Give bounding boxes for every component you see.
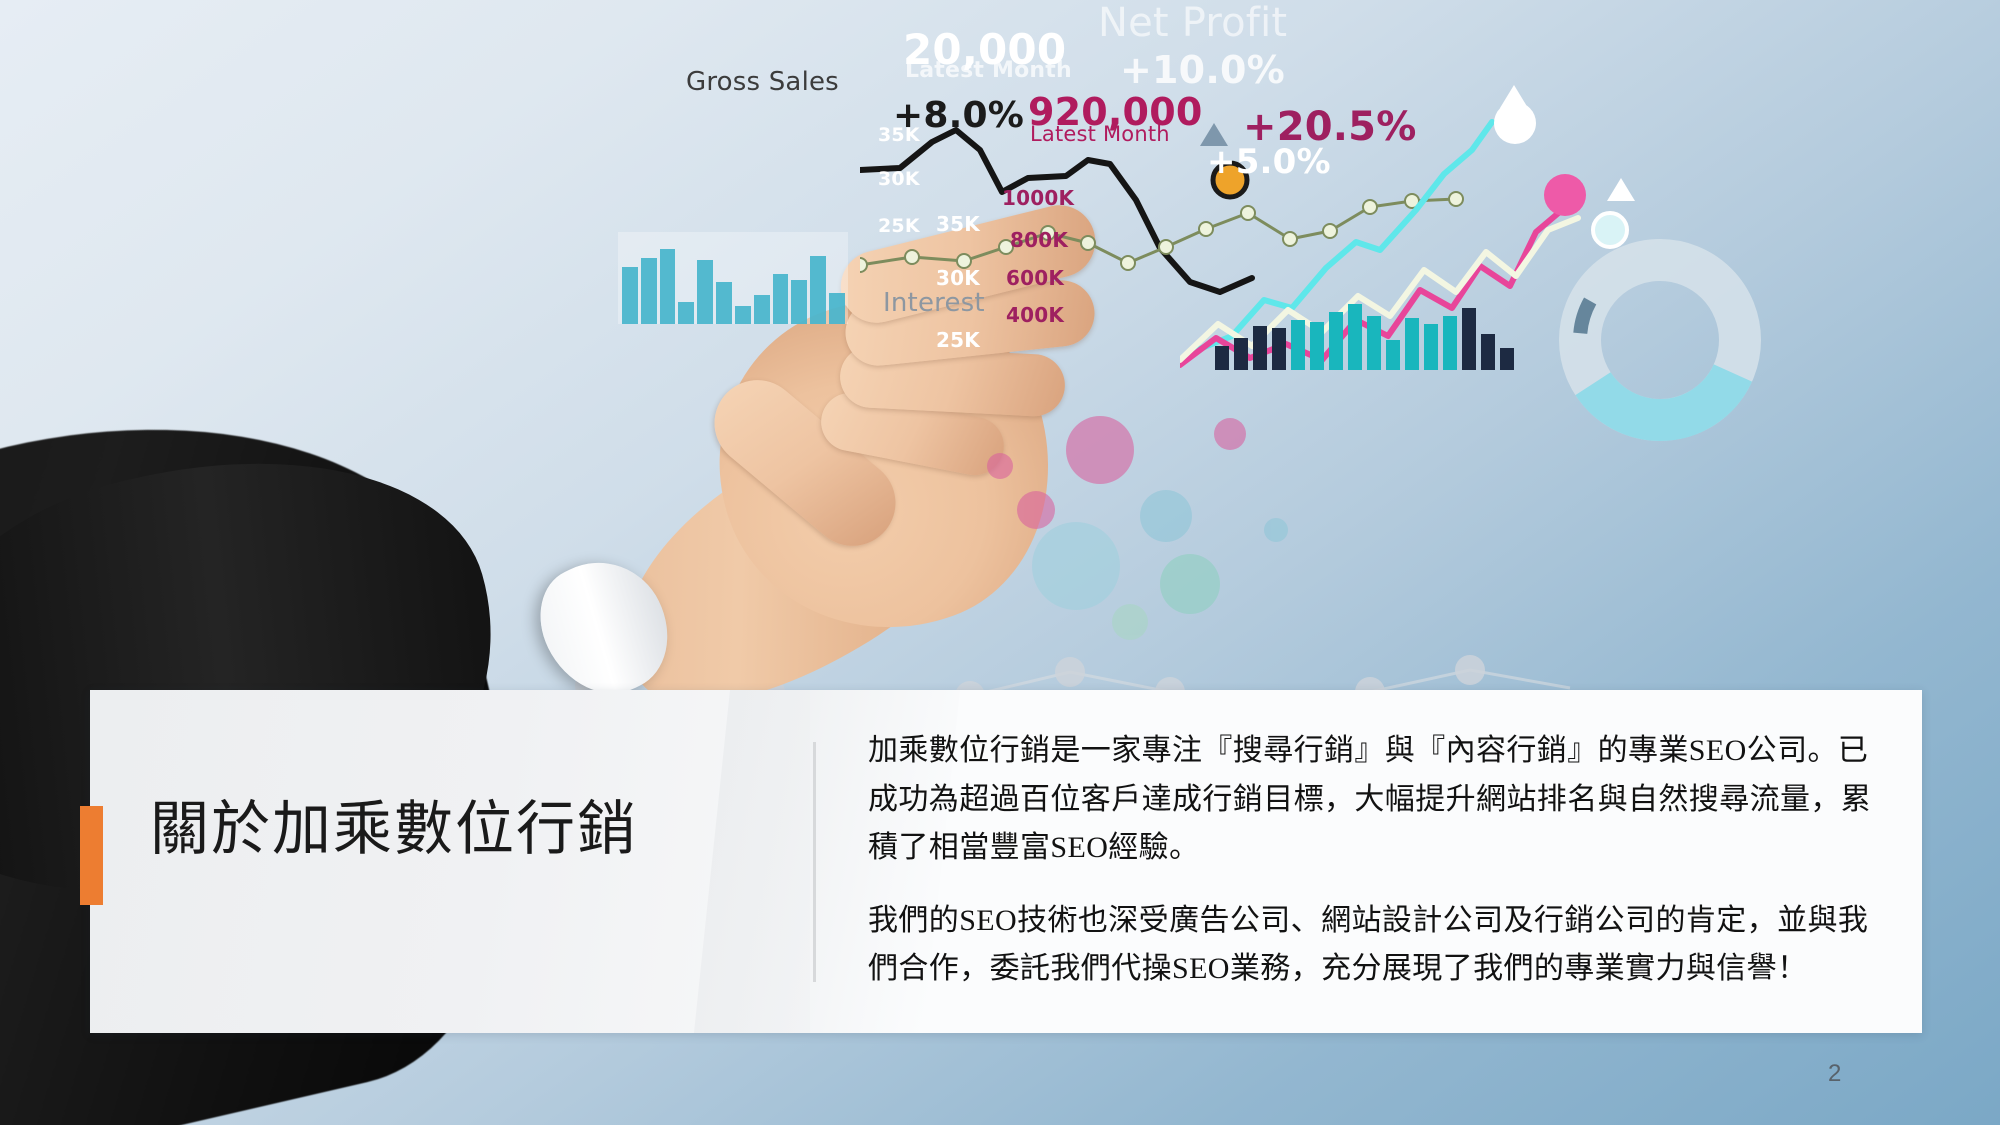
vertical-divider [813, 742, 816, 982]
body-paragraph-2: 我們的SEO技術也深受廣告公司、網站設計公司及行銷公司的肯定，並與我們合作，委託… [868, 897, 1898, 994]
page-title: 關於加乘數位行銷 [150, 795, 770, 865]
body-copy: 加乘數位行銷是一家專注『搜尋行銷』與『內容行銷』的專業SEO公司。已成功為超過百… [868, 727, 1898, 994]
body-paragraph-1: 加乘數位行銷是一家專注『搜尋行銷』與『內容行銷』的專業SEO公司。已成功為超過百… [868, 727, 1898, 873]
accent-bar [80, 806, 103, 905]
slide-canvas: Gross Sales 20,000 Latest Month +8.0% Ne… [0, 0, 2000, 1125]
page-number: 2 [1828, 1060, 1841, 1088]
